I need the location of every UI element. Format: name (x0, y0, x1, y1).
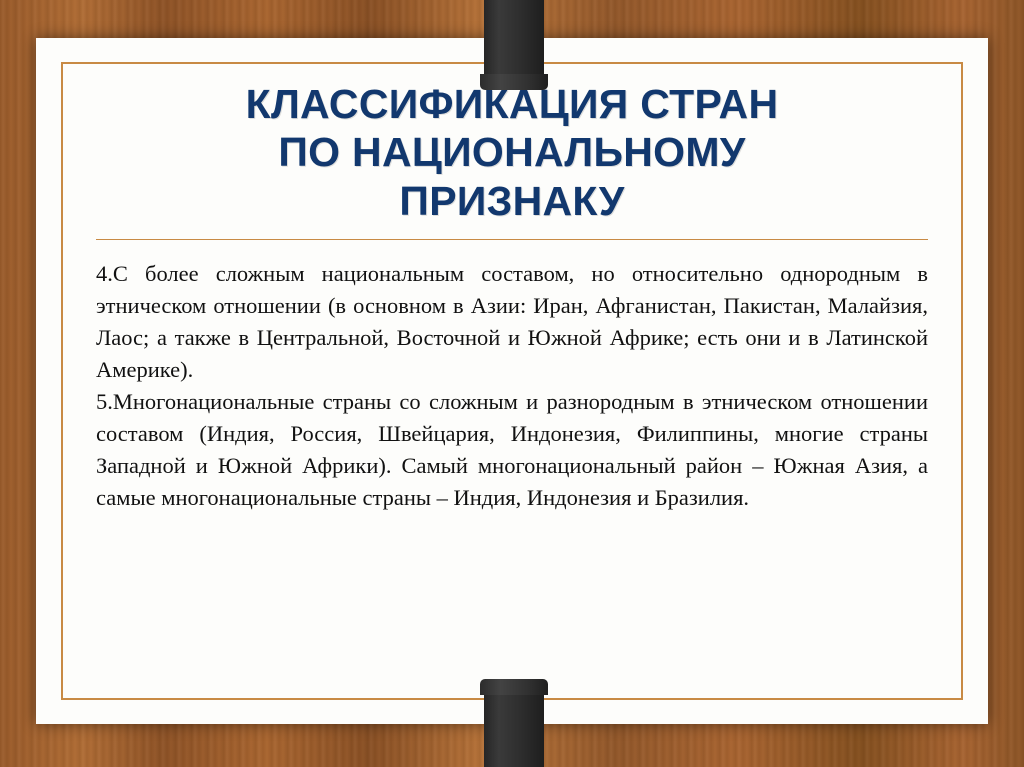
body-text: 4.С более сложным национальным составом,… (96, 258, 928, 514)
slide-canvas: КЛАССИФИКАЦИЯ СТРАН ПО НАЦИОНАЛЬНОМУ ПРИ… (0, 0, 1024, 767)
slide-content: КЛАССИФИКАЦИЯ СТРАН ПО НАЦИОНАЛЬНОМУ ПРИ… (96, 80, 928, 684)
clip-bottom (484, 687, 544, 767)
paragraph-5: 5.Многонациональные страны со сложным и … (96, 386, 928, 514)
paragraph-4: 4.С более сложным национальным составом,… (96, 258, 928, 386)
page-title-line-3: ПРИЗНАКУ (96, 177, 928, 225)
page-title: КЛАССИФИКАЦИЯ СТРАН ПО НАЦИОНАЛЬНОМУ ПРИ… (96, 80, 928, 225)
slide-paper: КЛАССИФИКАЦИЯ СТРАН ПО НАЦИОНАЛЬНОМУ ПРИ… (36, 38, 988, 724)
page-title-line-2: ПО НАЦИОНАЛЬНОМУ (96, 128, 928, 176)
clip-top-foot (480, 74, 548, 90)
clip-top (484, 0, 544, 82)
title-divider (96, 239, 928, 240)
clip-bottom-foot (480, 679, 548, 695)
